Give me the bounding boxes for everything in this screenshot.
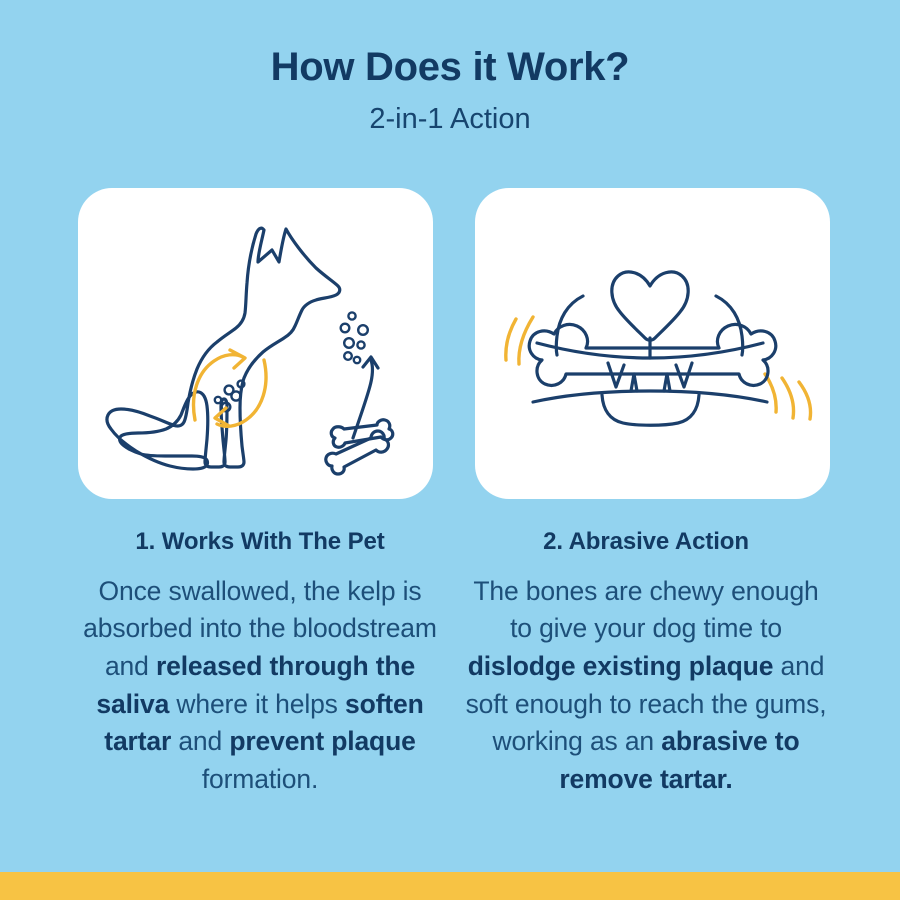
page-title: How Does it Work? [0,44,900,91]
lower-lip-line [533,391,767,402]
infographic-page: How Does it Work? 2-in-1 Action [0,0,900,900]
step-title-2: 2. Abrasive Action [462,528,830,557]
lower-tooth-left [631,374,637,391]
dog-silhouette [107,228,340,469]
page-subtitle: 2-in-1 Action [0,102,900,137]
lower-tooth-right [664,374,670,391]
dog-muzzle-chewing-bone-illustration [475,188,830,499]
step-title-1: 1. Works With The Pet [76,528,444,557]
kelp-particles-mouth [341,312,368,363]
card-abrasive-action [475,188,830,499]
bottom-accent-band [0,872,900,900]
crossed-bones [326,420,393,474]
lower-jaw [602,395,699,425]
yellow-motion-lines-right [765,374,811,419]
step-body-2: The bones are chewy enough to give your … [462,573,830,799]
header: How Does it Work? 2-in-1 Action [0,44,900,137]
steps-columns: 1. Works With The Pet Once swallowed, th… [0,528,900,848]
chew-bone [529,324,776,385]
dog-nose [612,272,688,340]
step-body-1: Once swallowed, the kelp is absorbed int… [76,573,444,799]
step-column-2: 2. Abrasive Action The bones are chewy e… [462,528,830,799]
sitting-dog-kelp-absorption-illustration [78,188,433,499]
step-column-1: 1. Works With The Pet Once swallowed, th… [76,528,444,799]
illustration-cards [78,188,830,499]
card-works-with-the-pet [78,188,433,499]
